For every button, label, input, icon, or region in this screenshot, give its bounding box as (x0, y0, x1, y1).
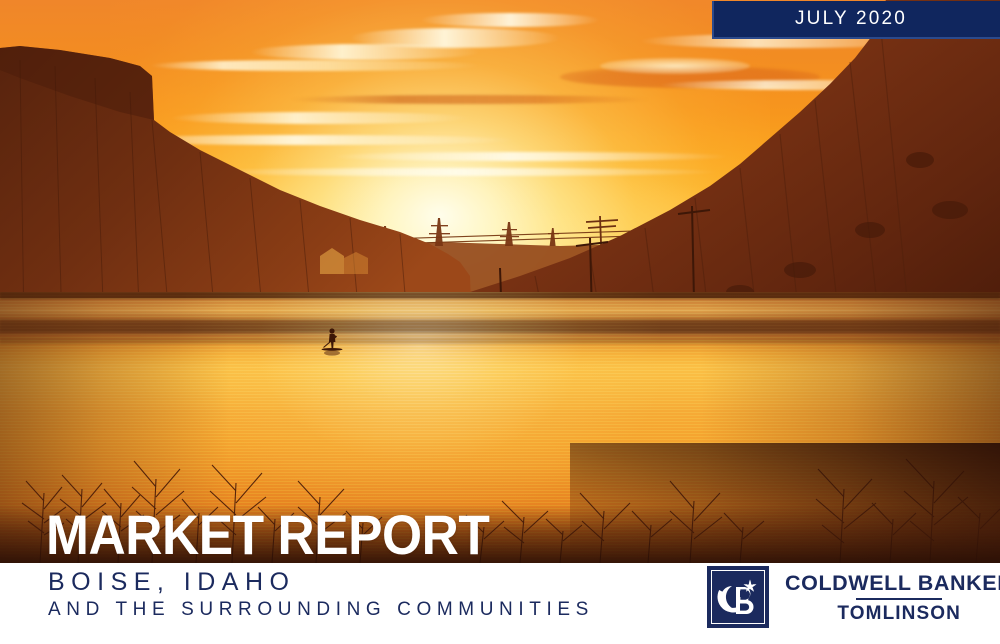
date-banner-label: JULY 2020 (795, 8, 919, 30)
logo-brand-name: COLDWELL BANKER (785, 571, 1000, 595)
logo-wordmark: COLDWELL BANKER TOMLINSON (785, 571, 1000, 624)
subtitle-communities: AND THE SURROUNDING COMMUNITIES (48, 597, 594, 623)
right-ridge-silhouette (440, 0, 1000, 330)
shore-structure (316, 244, 372, 274)
market-report-cover: JULY 2020 MARKET REPORT BOISE, IDAHO AND… (0, 0, 1000, 644)
far-shore-band (0, 320, 1000, 332)
cover-photograph (0, 0, 1000, 563)
title-block: MARKET REPORT BOISE, IDAHO AND THE SURRO… (46, 508, 594, 623)
subtitle-location: BOISE, IDAHO (48, 567, 594, 597)
far-shore-band (0, 292, 1000, 299)
coldwell-banker-mark-icon (707, 566, 769, 628)
logo-divider (856, 598, 942, 600)
date-banner: JULY 2020 (712, 1, 1000, 39)
paddleboarder-silhouette (316, 327, 350, 361)
logo-affiliate-name: TOMLINSON (837, 603, 961, 624)
page-title: MARKET REPORT (46, 508, 550, 562)
coldwell-banker-tomlinson-logo: COLDWELL BANKER TOMLINSON (707, 566, 1000, 628)
far-shore-band (0, 338, 1000, 344)
